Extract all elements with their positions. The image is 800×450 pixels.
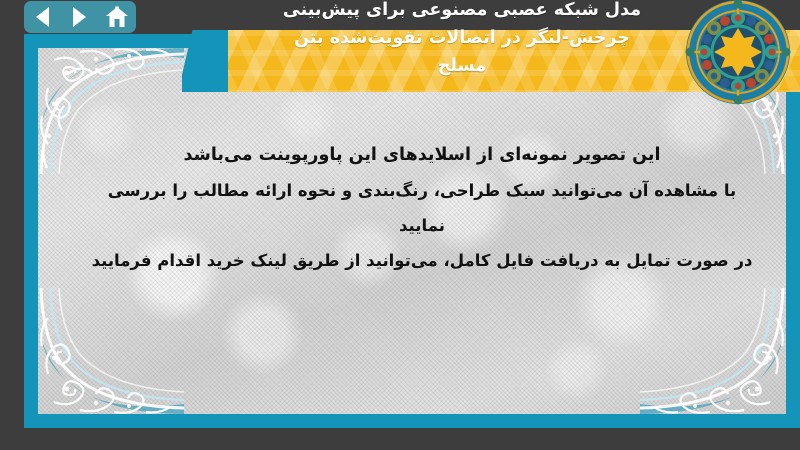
triangle-right-icon xyxy=(73,7,86,27)
body-line: با مشاهده آن می‌توانید سبک طراحی، رنگ‌بن… xyxy=(84,173,760,243)
next-slide-button[interactable] xyxy=(66,4,94,30)
previous-slide-button[interactable] xyxy=(29,4,57,30)
home-button[interactable] xyxy=(103,4,131,30)
presentation-viewer: این تصویر نمونه‌ای از اسلایدهای این پاور… xyxy=(0,0,800,450)
slide-body-text: این تصویر نمونه‌ای از اسلایدهای این پاور… xyxy=(84,138,760,278)
home-icon xyxy=(105,6,129,28)
triangle-left-icon xyxy=(36,7,49,27)
navigation-toolbar xyxy=(24,1,136,33)
body-line: این تصویر نمونه‌ای از اسلایدهای این پاور… xyxy=(84,138,760,173)
body-line: در صورت تمایل به دریافت فایل کامل، می‌تو… xyxy=(84,243,760,278)
slide-canvas: این تصویر نمونه‌ای از اسلایدهای این پاور… xyxy=(24,34,800,428)
